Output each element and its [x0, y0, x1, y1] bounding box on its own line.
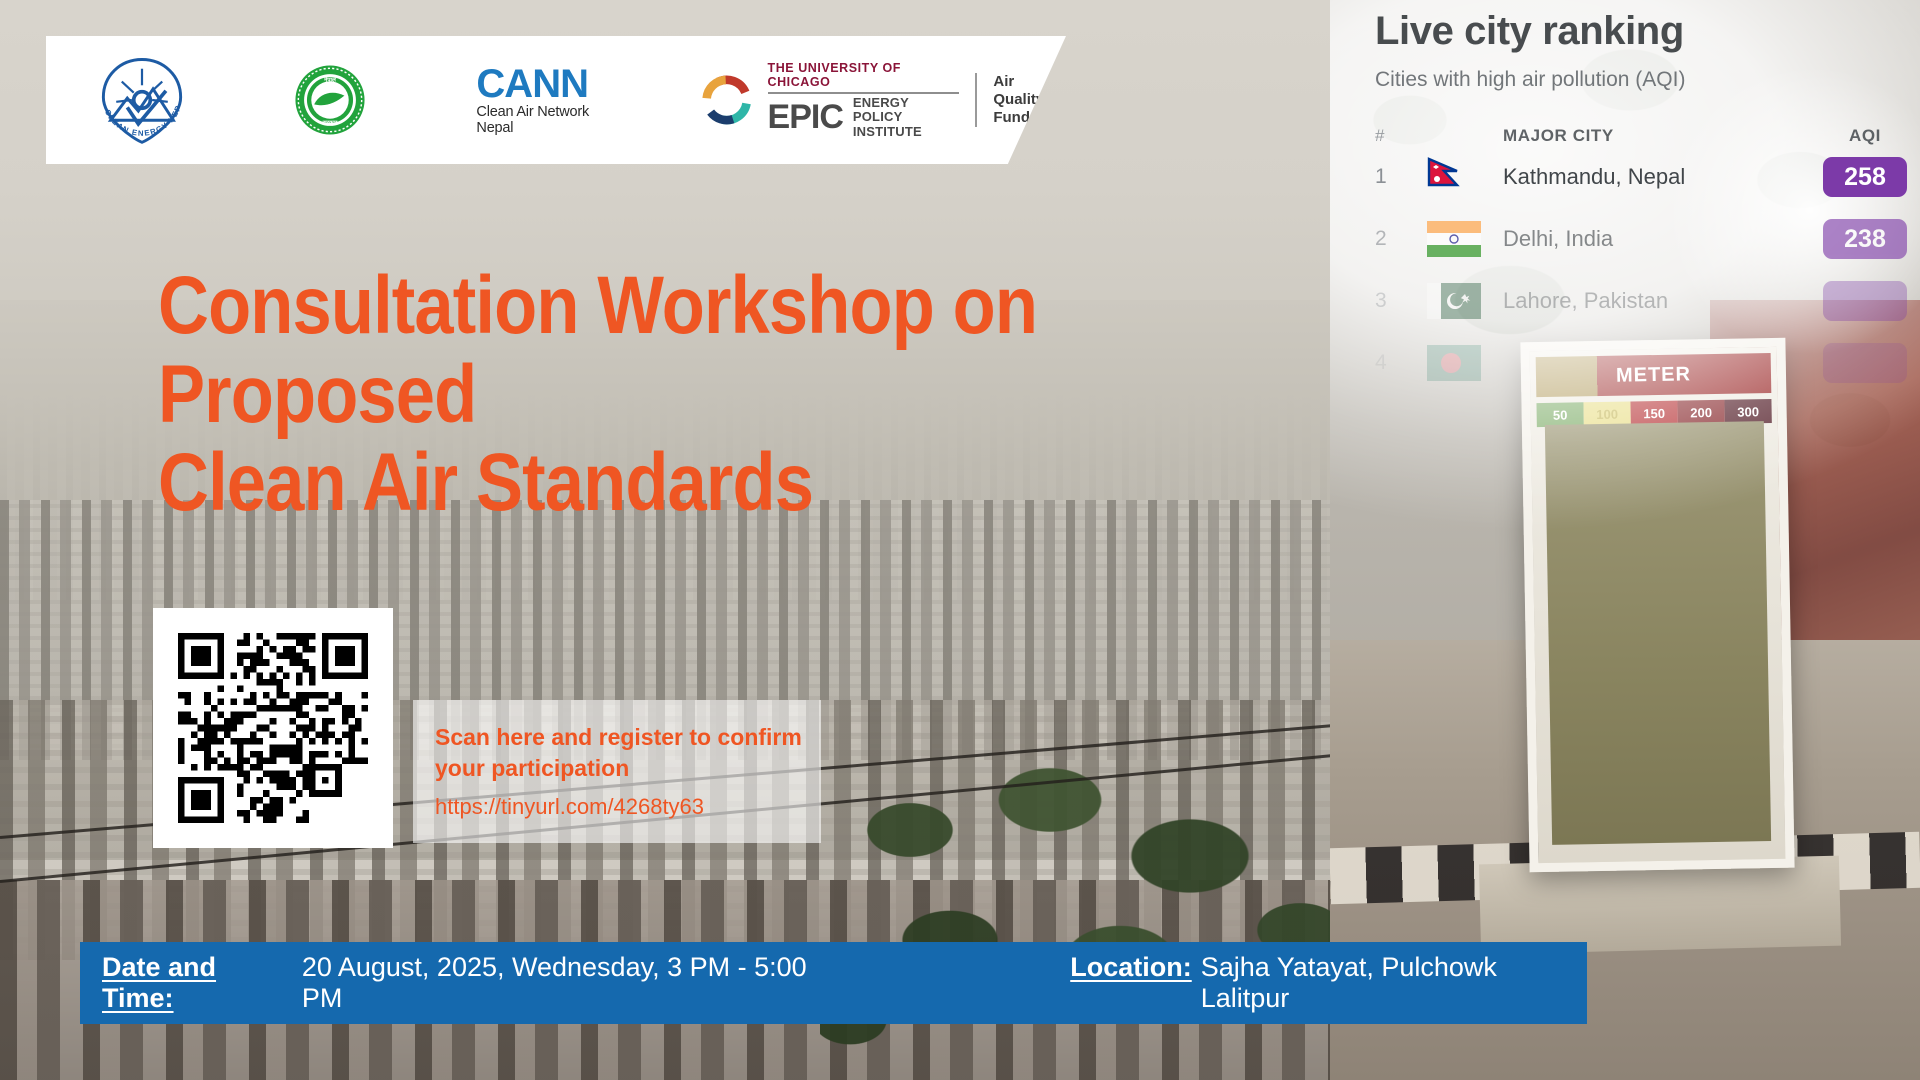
- date-and-time-block: Date and Time: 20 August, 2025, Wednesda…: [102, 952, 848, 1014]
- svg-text:सरकार: सरकार: [322, 120, 338, 126]
- registration-url[interactable]: https://tinyurl.com/4268ty63: [435, 794, 821, 820]
- uchicago-rule: [768, 92, 960, 94]
- bangladesh-flag-icon: [1427, 345, 1503, 381]
- row-rank: 2: [1375, 227, 1427, 251]
- row-city: Lahore, Pakistan: [1503, 288, 1810, 314]
- aqi-badge: [1823, 343, 1907, 383]
- scan-line-1: Scan here and register to confirm: [435, 722, 821, 753]
- location-label: Location:: [1070, 952, 1192, 983]
- table-row[interactable]: 1 Kathmandu, Nepal 258: [1375, 146, 1920, 208]
- epic-wordmark: EPIC: [768, 102, 843, 133]
- cann-tagline: Clean Air Network Nepal: [476, 104, 624, 136]
- clean-energy-nepal-logo: CLEAN ENERGY NEPAL: [96, 54, 188, 146]
- nepal-flag-icon: [1427, 157, 1503, 197]
- title-line-1: Consultation Workshop on Proposed: [158, 262, 1147, 439]
- row-aqi: 258: [1810, 157, 1920, 197]
- uchicago-line: THE UNIVERSITY OF CHICAGO: [768, 61, 960, 89]
- event-details-bar: Date and Time: 20 August, 2025, Wednesda…: [80, 942, 1587, 1024]
- aqi-badge: 258: [1823, 157, 1907, 197]
- row-rank: 4: [1375, 351, 1427, 375]
- row-city: Kathmandu, Nepal: [1503, 164, 1810, 190]
- live-city-ranking-widget: Live city ranking Cities with high air p…: [1375, 8, 1920, 394]
- aqi-badge: 238: [1823, 219, 1907, 259]
- row-aqi: 238: [1810, 219, 1920, 259]
- date-and-time-value: 20 August, 2025, Wednesday, 3 PM - 5:00 …: [302, 952, 848, 1014]
- ranking-subtitle: Cities with high air pollution (AQI): [1375, 68, 1920, 92]
- row-city: Delhi, India: [1503, 226, 1810, 252]
- page-title: Consultation Workshop on Proposed Clean …: [158, 262, 1147, 528]
- partner-logo-banner: CLEAN ENERGY NEPAL नेपाल सरकार CANN Clea…: [46, 36, 1066, 164]
- row-aqi: [1810, 343, 1920, 383]
- row-rank: 1: [1375, 165, 1427, 189]
- column-header-rank: #: [1375, 126, 1427, 146]
- scan-line-2: your participation: [435, 753, 821, 784]
- government-of-nepal-seal-logo: नेपाल सरकार: [294, 64, 366, 136]
- epic-sub-line2: INSTITUTE: [853, 125, 959, 140]
- epic-ring-icon: [698, 70, 755, 130]
- row-aqi: [1810, 281, 1920, 321]
- table-row[interactable]: 2 Delhi, India 238: [1375, 208, 1920, 270]
- epic-sub-line1: ENERGY POLICY: [853, 96, 959, 125]
- aqi-badge: [1823, 281, 1907, 321]
- qr-code-card[interactable]: [153, 608, 393, 848]
- column-header-city: MAJOR CITY: [1503, 126, 1810, 146]
- row-rank: 3: [1375, 289, 1427, 313]
- location-value: Sajha Yatayat, Pulchowk Lalitpur: [1201, 952, 1587, 1014]
- column-header-aqi: AQI: [1810, 126, 1920, 146]
- title-line-2: Clean Air Standards: [158, 439, 1147, 528]
- date-and-time-label: Date and Time:: [102, 952, 293, 1014]
- ranking-table-header: # MAJOR CITY AQI: [1375, 126, 1920, 146]
- cann-logo: CANN Clean Air Network Nepal: [476, 65, 624, 136]
- india-flag-icon: [1427, 221, 1503, 257]
- cann-wordmark: CANN: [476, 65, 624, 103]
- table-row[interactable]: 4: [1375, 332, 1920, 394]
- epic-uchicago-logo: THE UNIVERSITY OF CHICAGO EPIC ENERGY PO…: [698, 61, 1066, 140]
- scan-instruction-box: Scan here and register to confirm your p…: [413, 700, 821, 843]
- pakistan-flag-icon: [1427, 283, 1503, 319]
- table-row[interactable]: 3 Lahore, Pakistan: [1375, 270, 1920, 332]
- qr-code-image[interactable]: [178, 633, 368, 823]
- location-block: Location: Sajha Yatayat, Pulchowk Lalitp…: [1070, 952, 1587, 1014]
- ranking-title: Live city ranking: [1375, 8, 1920, 54]
